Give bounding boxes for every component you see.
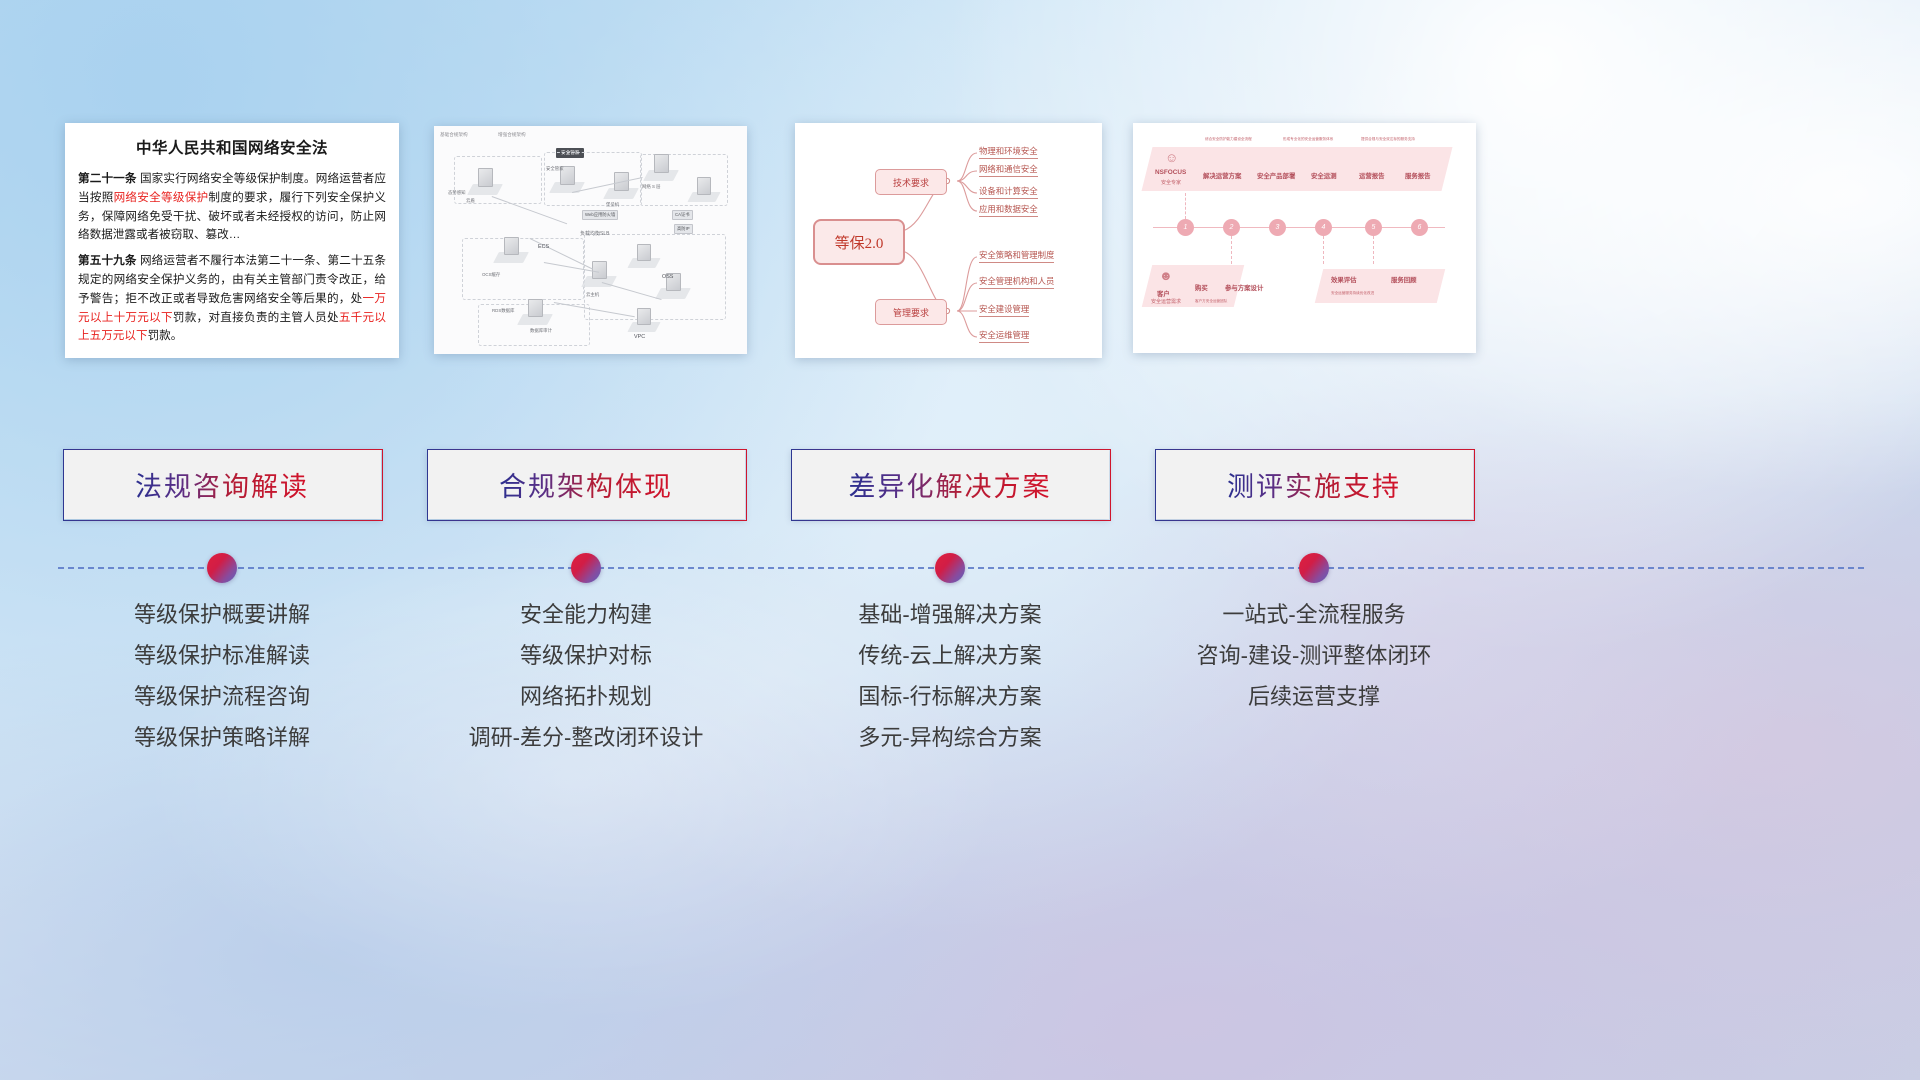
timeline-dot-4[interactable] [1299, 553, 1329, 583]
law-text-card[interactable]: 中华人民共和国网络安全法 第二十一条 国家实行网络安全等级保护制度。网络运营者应… [65, 123, 399, 358]
process-bottom-item: 效果评估 [1331, 275, 1357, 284]
section-list-regulation-consulting: 等级保护概要讲解 等级保护标准解读 等级保护流程咨询 等级保护策略详解 [27, 604, 417, 768]
arch-label: 云盾 [466, 198, 475, 204]
mindmap-leaf: 物理和环境安全 [979, 145, 1038, 159]
process-step: 5 [1365, 219, 1382, 236]
process-connector [1185, 193, 1186, 219]
process-step: 2 [1223, 219, 1240, 236]
architecture-diagram-card[interactable]: 基础合规架构 增强合规架构 安全管家 [434, 126, 747, 354]
process-connector [1373, 236, 1374, 264]
process-step: 1 [1177, 219, 1194, 236]
law-article-21: 第二十一条 国家实行网络安全等级保护制度。网络运营者应当按照网络安全等级保护制度… [78, 170, 386, 245]
section-banner-label: 差异化解决方案 [849, 465, 1052, 504]
list-item: 网络拓扑规划 [391, 686, 781, 708]
process-rail [1153, 227, 1445, 228]
list-item: 安全能力构建 [391, 604, 781, 626]
section-list-compliance-architecture: 安全能力构建 等级保护对标 网络拓扑规划 调研-差分-整改闭环设计 [391, 604, 781, 768]
mindmap-leaf: 应用和数据安全 [979, 203, 1038, 217]
process-bottom-item: 服务回顾 [1391, 275, 1417, 284]
process-customer-sub: 安全运营需求 [1151, 298, 1181, 305]
process-top-item: 运营报告 [1359, 171, 1385, 180]
arch-label: OCS缓存 [482, 272, 500, 278]
process-step: 3 [1269, 219, 1286, 236]
list-item: 后续运营支撑 [1119, 686, 1509, 708]
process-top-caption: 综合安全防护能力建设全流程 [1205, 137, 1252, 142]
process-step: 6 [1411, 219, 1428, 236]
list-item: 基础-增强解决方案 [755, 604, 1145, 626]
arch-label: 安全管家 [546, 166, 564, 172]
expert-person-icon: ☺ [1165, 151, 1178, 164]
arch-node [528, 299, 543, 317]
process-brand-sub: 安全专家 [1161, 179, 1181, 186]
arch-label: 堡垒机 [606, 202, 619, 208]
list-item: 咨询-建设-测评整体闭环 [1119, 645, 1509, 667]
arch-label: 云主机 [586, 292, 599, 298]
section-banner-label: 测评实施支持 [1227, 465, 1401, 504]
timeline-dot-1[interactable] [207, 553, 237, 583]
process-top-band [1142, 147, 1453, 191]
article-59-text-b: 罚款，对直接负责的主管人员处 [173, 311, 339, 324]
process-bottom-item: 参与方案设计 [1225, 283, 1263, 292]
mindmap-leaf: 安全运维管理 [979, 329, 1029, 343]
article-59-label: 第五十九条 [78, 254, 137, 267]
arch-chip: Web应用防火墙 [582, 210, 618, 220]
list-item: 多元-异构综合方案 [755, 727, 1145, 749]
mindmap-branch-technical[interactable]: 技术要求 [875, 169, 947, 195]
article-59-text-c: 罚款。 [148, 329, 183, 342]
process-top-item: 解决运营方案 [1203, 171, 1241, 180]
thumbnail-card-row: 中华人民共和国网络安全法 第二十一条 国家实行网络安全等级保护制度。网络运营者应… [0, 123, 1920, 363]
process-connector [1323, 236, 1324, 264]
mindmap-root-node[interactable]: 等保2.0 [813, 219, 905, 265]
arch-zone-d [462, 238, 584, 300]
mindmap-leaf: 安全管理机构和人员 [979, 275, 1054, 289]
arch-node [637, 244, 651, 261]
customer-person-icon: ☻ [1159, 269, 1173, 282]
section-banner-label: 合规架构体现 [499, 465, 673, 504]
law-card-title: 中华人民共和国网络安全法 [78, 136, 386, 161]
process-bottom-caption: 安全运营服务持续优化改进 [1331, 291, 1374, 296]
arch-label: 态势感知 [448, 190, 466, 196]
mindmap-card[interactable]: 等保2.0 技术要求 物理和环境安全 网络和通信安全 设备和计算安全 应用和数据… [795, 123, 1102, 358]
process-bottom-item: 购买 [1195, 283, 1208, 292]
arch-header-left: 基础合规架构 [440, 132, 468, 138]
arch-node [637, 308, 651, 325]
process-connector [1231, 236, 1232, 264]
section-banner-compliance-architecture[interactable]: 合规架构体现 [427, 449, 745, 519]
law-card-body: 中华人民共和国网络安全法 第二十一条 国家实行网络安全等级保护制度。网络运营者应… [65, 123, 399, 358]
list-item: 等级保护对标 [391, 645, 781, 667]
process-top-caption: 形成专业化的安全运营服务体系 [1283, 137, 1333, 142]
arch-label: 网络 S 层 [642, 184, 661, 190]
mindmap-leaf: 安全建设管理 [979, 303, 1029, 317]
section-banner-differentiated-solution[interactable]: 差异化解决方案 [791, 449, 1109, 519]
arch-label: VPC [634, 334, 645, 340]
process-canvas: ☺ NSFOCUS 安全专家 综合安全防护能力建设全流程 形成专业化的安全运营服… [1133, 123, 1476, 353]
section-list-differentiated-solution: 基础-增强解决方案 传统-云上解决方案 国标-行标解决方案 多元-异构综合方案 [755, 604, 1145, 768]
arch-chip: 高防IP [674, 224, 693, 234]
arch-header-right: 增强合规架构 [498, 132, 526, 138]
arch-node [654, 154, 669, 173]
process-brand: NSFOCUS [1155, 169, 1186, 176]
list-item: 等级保护概要讲解 [27, 604, 417, 626]
process-bottom-caption: 客户方安全运营团队 [1195, 299, 1227, 304]
arch-label: 负载均衡SLB [580, 230, 609, 237]
arch-label: OSS [662, 274, 673, 280]
arch-label: ECS [538, 244, 549, 250]
mindmap-leaf: 设备和计算安全 [979, 185, 1038, 199]
arch-label: 数据库审计 [530, 328, 552, 334]
section-banner-regulation-consulting[interactable]: 法规咨询解读 [63, 449, 381, 519]
list-item: 一站式-全流程服务 [1119, 604, 1509, 626]
arch-node [504, 237, 519, 255]
section-banner-label: 法规咨询解读 [135, 465, 309, 504]
architecture-canvas: 基础合规架构 增强合规架构 安全管家 [434, 126, 747, 354]
timeline-dot-2[interactable] [571, 553, 601, 583]
article-21-highlight: 网络安全等级保护 [114, 191, 209, 204]
list-item: 调研-差分-整改闭环设计 [391, 727, 781, 749]
arch-node [478, 168, 493, 187]
mindmap-leaf: 安全策略和管理制度 [979, 249, 1054, 263]
mindmap-canvas: 等保2.0 技术要求 物理和环境安全 网络和通信安全 设备和计算安全 应用和数据… [795, 123, 1102, 358]
mindmap-branch-management[interactable]: 管理要求 [875, 299, 947, 325]
law-article-59: 第五十九条 网络运营者不履行本法第二十一条、第二十五条规定的网络安全保护义务的，… [78, 252, 386, 346]
process-step: 4 [1315, 219, 1332, 236]
section-banner-assessment-support[interactable]: 测评实施支持 [1155, 449, 1473, 519]
list-item: 等级保护流程咨询 [27, 686, 417, 708]
mindmap-leaf: 网络和通信安全 [979, 163, 1038, 177]
arch-label: RDS数据库 [492, 308, 514, 314]
list-item: 传统-云上解决方案 [755, 645, 1145, 667]
service-process-card[interactable]: ☺ NSFOCUS 安全专家 综合安全防护能力建设全流程 形成专业化的安全运营服… [1133, 123, 1476, 353]
list-item: 等级保护策略详解 [27, 727, 417, 749]
arch-zone-a [454, 156, 542, 204]
arch-node [697, 177, 711, 195]
process-top-caption: 提供合规与安全双达标的服务支持 [1361, 137, 1415, 142]
arch-chip: CA证书 [672, 210, 693, 220]
process-customer-label: 客户 [1157, 289, 1170, 298]
process-top-item: 服务报告 [1405, 171, 1431, 180]
list-item: 等级保护标准解读 [27, 645, 417, 667]
process-top-item: 安全产品部署 [1257, 171, 1295, 180]
list-item: 国标-行标解决方案 [755, 686, 1145, 708]
timeline-dot-3[interactable] [935, 553, 965, 583]
article-21-label: 第二十一条 [78, 172, 137, 185]
process-top-item: 安全运测 [1311, 171, 1337, 180]
section-list-assessment-support: 一站式-全流程服务 咨询-建设-测评整体闭环 后续运营支撑 [1119, 604, 1509, 727]
